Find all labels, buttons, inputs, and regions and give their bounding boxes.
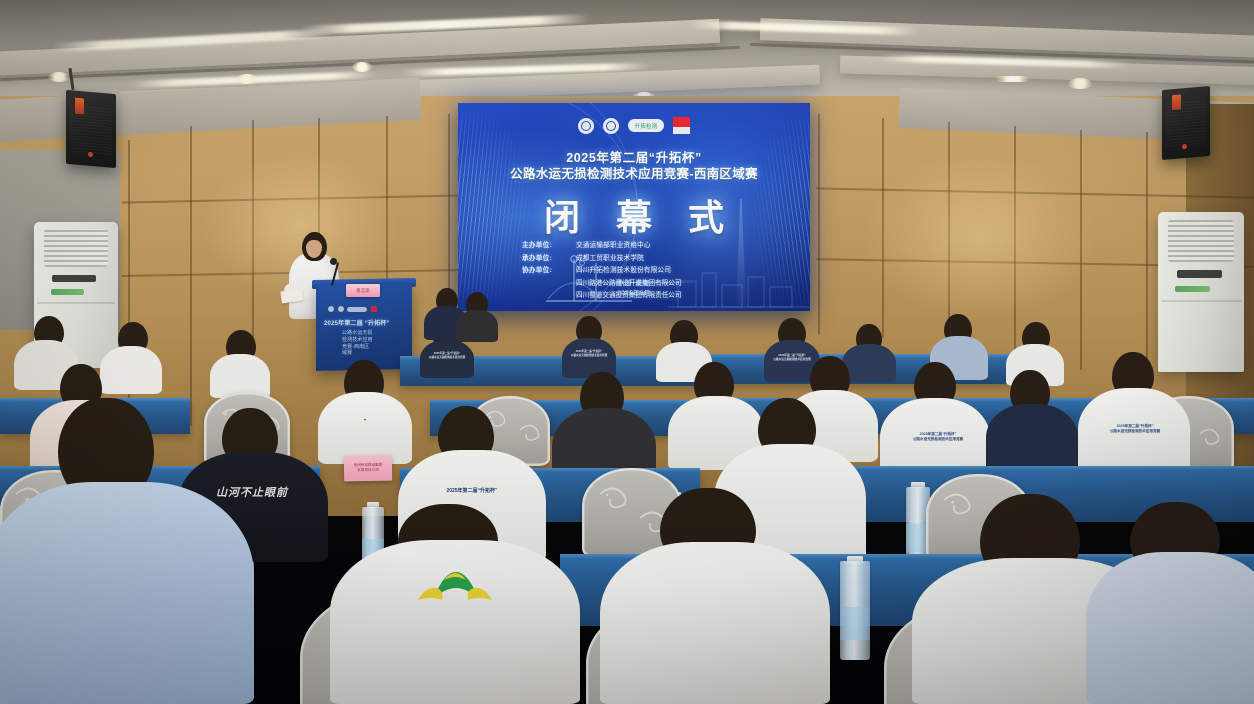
slide-main-heading: 闭 幕 式 — [458, 189, 810, 241]
slide-footer-location: 中国·成都 — [617, 280, 651, 287]
speaker-badge — [1172, 94, 1181, 110]
red-square-logo-icon — [673, 117, 690, 134]
attendee-shirt-graphic — [400, 560, 510, 608]
company-placard: 贵州桥梁建设集团 有限责任公司 — [344, 455, 392, 482]
podium-brand-line: 2025年第二届 “升拓杯” — [324, 318, 406, 327]
placard-line2: 有限责任公司 — [357, 468, 379, 474]
ac-vent — [44, 229, 108, 267]
water-bottle[interactable] — [840, 556, 870, 660]
wall-seam-2 — [190, 126, 192, 426]
speaker-badge — [75, 98, 84, 115]
floor-ac-right — [1158, 212, 1244, 372]
attendee-body-foreground-blue — [1086, 552, 1254, 704]
podium-sub-lines: 公路水运无损 检测技术应用 竞赛-西南区 域赛 — [342, 330, 412, 357]
wall-seam-10 — [1014, 126, 1016, 362]
podium-emblem-2-icon — [338, 306, 344, 312]
attendee-body-navy — [986, 404, 1078, 474]
organizer-role: 主办单位: — [522, 239, 576, 249]
ac-brand-logo — [1175, 286, 1209, 292]
attendee-body-dark — [456, 310, 498, 342]
wall-speaker-left — [66, 90, 116, 168]
ac-vent — [1168, 220, 1233, 262]
organization-emblem-2-icon — [603, 118, 619, 134]
organizer-row: 承办单位: 成都工贸职业技术学院 — [522, 252, 772, 262]
wall-seam-6 — [448, 114, 450, 300]
slide-footer-date: 2025年8月 — [458, 288, 810, 297]
attendee-body-white — [100, 346, 162, 394]
wall-seam-12 — [1146, 132, 1148, 372]
slide-footer: 中国·成都 2025年8月 — [458, 278, 810, 298]
wall-seam-8 — [882, 118, 884, 338]
table-edge-row2-mid — [430, 400, 690, 404]
organizer-role: 承办单位: — [522, 252, 576, 262]
downlight-1 — [48, 72, 70, 82]
podium-red-logo-icon — [371, 306, 377, 312]
wall-seam-11 — [1080, 130, 1082, 370]
downlight-2 — [236, 74, 258, 84]
slide-logo-row: 升拓检测 — [458, 117, 810, 134]
ceiling-vent-right — [996, 76, 1030, 82]
organizer-row: 主办单位: 交通运输部职业资格中心 — [522, 239, 772, 249]
podium-logo-row — [328, 306, 377, 312]
ac-brand-logo — [51, 289, 85, 295]
podium-emblem-1-icon — [328, 306, 334, 312]
podium-wordmark — [347, 307, 367, 312]
projection-screen: 升拓检测 2025年第二届“升拓杯” 公路水运无损检测技术应用竞赛-西南区域赛 … — [458, 103, 810, 311]
bottle-label — [840, 607, 870, 641]
ac-display — [52, 275, 96, 282]
ac-panel-split — [1161, 300, 1240, 302]
attendee-body-white — [1078, 388, 1190, 474]
wall-speaker-right — [1162, 86, 1210, 160]
attendee-body-foreground-white — [600, 542, 830, 704]
attendee-body-foreground-blue — [0, 482, 254, 704]
conference-photo: 升拓检测 2025年第二届“升拓杯” 公路水运无损检测技术应用竞赛-西南区域赛 … — [0, 0, 1254, 704]
bottle-body — [840, 561, 870, 660]
organization-emblem-1-icon — [578, 118, 594, 134]
downlight-3 — [352, 62, 372, 72]
organizer-row: 协办单位: 四川升拓检测技术股份有限公司 — [522, 264, 772, 274]
organizer-name: 交通运输部职业资格中心 — [576, 239, 651, 249]
organizer-role: 协办单位: — [522, 264, 576, 274]
ac-panel-split — [37, 302, 114, 304]
speaker-led — [1182, 144, 1187, 149]
ac-display — [1177, 270, 1222, 278]
speaker-led — [88, 152, 93, 157]
slide-title-line2: 公路水运无损检测技术应用竞赛-西南区域赛 — [458, 163, 810, 182]
sponsor-wordmark: 升拓检测 — [628, 119, 665, 132]
podium-plaque: 发言席 — [346, 284, 380, 297]
attendee-body-navy — [420, 340, 474, 378]
attendee-body-white — [318, 392, 412, 464]
podium-microphone-head — [330, 258, 337, 265]
attendee-body-navy — [842, 344, 896, 382]
wall-seam-7 — [818, 114, 820, 334]
organizer-name: 四川升拓检测技术股份有限公司 — [576, 264, 671, 274]
downlight-7 — [1068, 78, 1092, 89]
organizer-name: 成都工贸职业技术学院 — [576, 252, 644, 262]
